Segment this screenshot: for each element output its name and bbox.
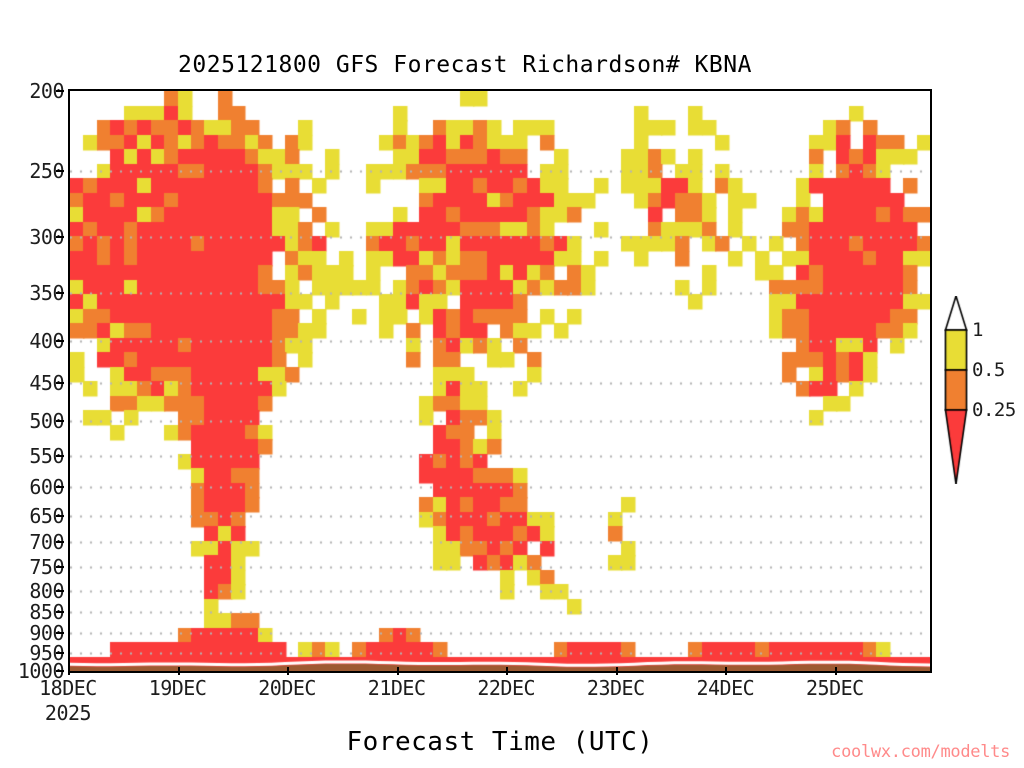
y-tick-label: 500 bbox=[2, 409, 64, 433]
x-tick-label: 25DEC bbox=[806, 676, 864, 700]
x-tick-label: 22DEC bbox=[477, 676, 535, 700]
x-tick-mark bbox=[616, 667, 618, 675]
y-tick-mark bbox=[56, 670, 64, 672]
credit-watermark: coolwx.com/modelts bbox=[831, 742, 1010, 762]
y-tick-mark bbox=[56, 652, 64, 654]
y-tick-mark bbox=[56, 292, 64, 294]
y-tick-mark bbox=[56, 170, 64, 172]
y-tick-mark bbox=[56, 382, 64, 384]
y-tick-mark bbox=[56, 515, 64, 517]
chart-page: 2025121800 GFS Forecast Richardson# KBNA… bbox=[0, 0, 1024, 768]
y-tick-mark bbox=[56, 541, 64, 543]
x-tick-label: 20DEC bbox=[258, 676, 316, 700]
y-tick-label: 300 bbox=[2, 225, 64, 249]
x-tick-label: 18DEC bbox=[39, 676, 97, 700]
x-axis: 18DEC19DEC20DEC21DEC22DEC23DEC24DEC25DEC… bbox=[68, 676, 932, 720]
y-tick-label: 800 bbox=[2, 579, 64, 603]
y-tick-mark bbox=[56, 455, 64, 457]
x-tick-mark bbox=[68, 667, 70, 675]
y-tick-label: 200 bbox=[2, 79, 64, 103]
y-tick-mark bbox=[56, 611, 64, 613]
y-tick-label: 700 bbox=[2, 530, 64, 554]
plot-area bbox=[68, 89, 932, 673]
y-tick-label: 250 bbox=[2, 159, 64, 183]
y-tick-mark bbox=[56, 236, 64, 238]
y-tick-label: 550 bbox=[2, 444, 64, 468]
colorbar: 10.50.25 bbox=[944, 296, 968, 484]
y-tick-mark bbox=[56, 566, 64, 568]
x-tick-mark bbox=[287, 667, 289, 675]
y-tick-mark bbox=[56, 340, 64, 342]
y-tick-label: 750 bbox=[2, 555, 64, 579]
page-title: 2025121800 GFS Forecast Richardson# KBNA bbox=[0, 52, 930, 78]
colorbar-tick-label: 0.25 bbox=[972, 399, 1016, 421]
y-tick-mark bbox=[56, 90, 64, 92]
x-tick-label: 23DEC bbox=[587, 676, 645, 700]
x-tick-mark bbox=[725, 667, 727, 675]
x-tick-mark bbox=[835, 667, 837, 675]
x-tick-mark bbox=[506, 667, 508, 675]
x-tick-label: 24DEC bbox=[696, 676, 754, 700]
y-tick-label: 400 bbox=[2, 329, 64, 353]
y-tick-mark bbox=[56, 420, 64, 422]
y-tick-label: 650 bbox=[2, 504, 64, 528]
colorbar-canvas bbox=[944, 296, 968, 484]
x-tick-label: 21DEC bbox=[368, 676, 426, 700]
x-axis-year-label: 2025 bbox=[45, 701, 91, 725]
x-tick-mark bbox=[178, 667, 180, 675]
y-tick-label: 350 bbox=[2, 281, 64, 305]
x-tick-mark bbox=[397, 667, 399, 675]
y-tick-mark bbox=[56, 632, 64, 634]
richardson-heatmap-canvas bbox=[70, 91, 930, 671]
y-axis: 2002503003504004505005506006507007508008… bbox=[0, 89, 64, 673]
y-tick-label: 600 bbox=[2, 475, 64, 499]
colorbar-tick-label: 1 bbox=[972, 319, 983, 341]
y-tick-mark bbox=[56, 486, 64, 488]
x-axis-title: Forecast Time (UTC) bbox=[68, 727, 932, 757]
x-tick-label: 19DEC bbox=[149, 676, 207, 700]
y-tick-label: 450 bbox=[2, 371, 64, 395]
colorbar-tick-label: 0.5 bbox=[972, 359, 1005, 381]
y-tick-mark bbox=[56, 590, 64, 592]
